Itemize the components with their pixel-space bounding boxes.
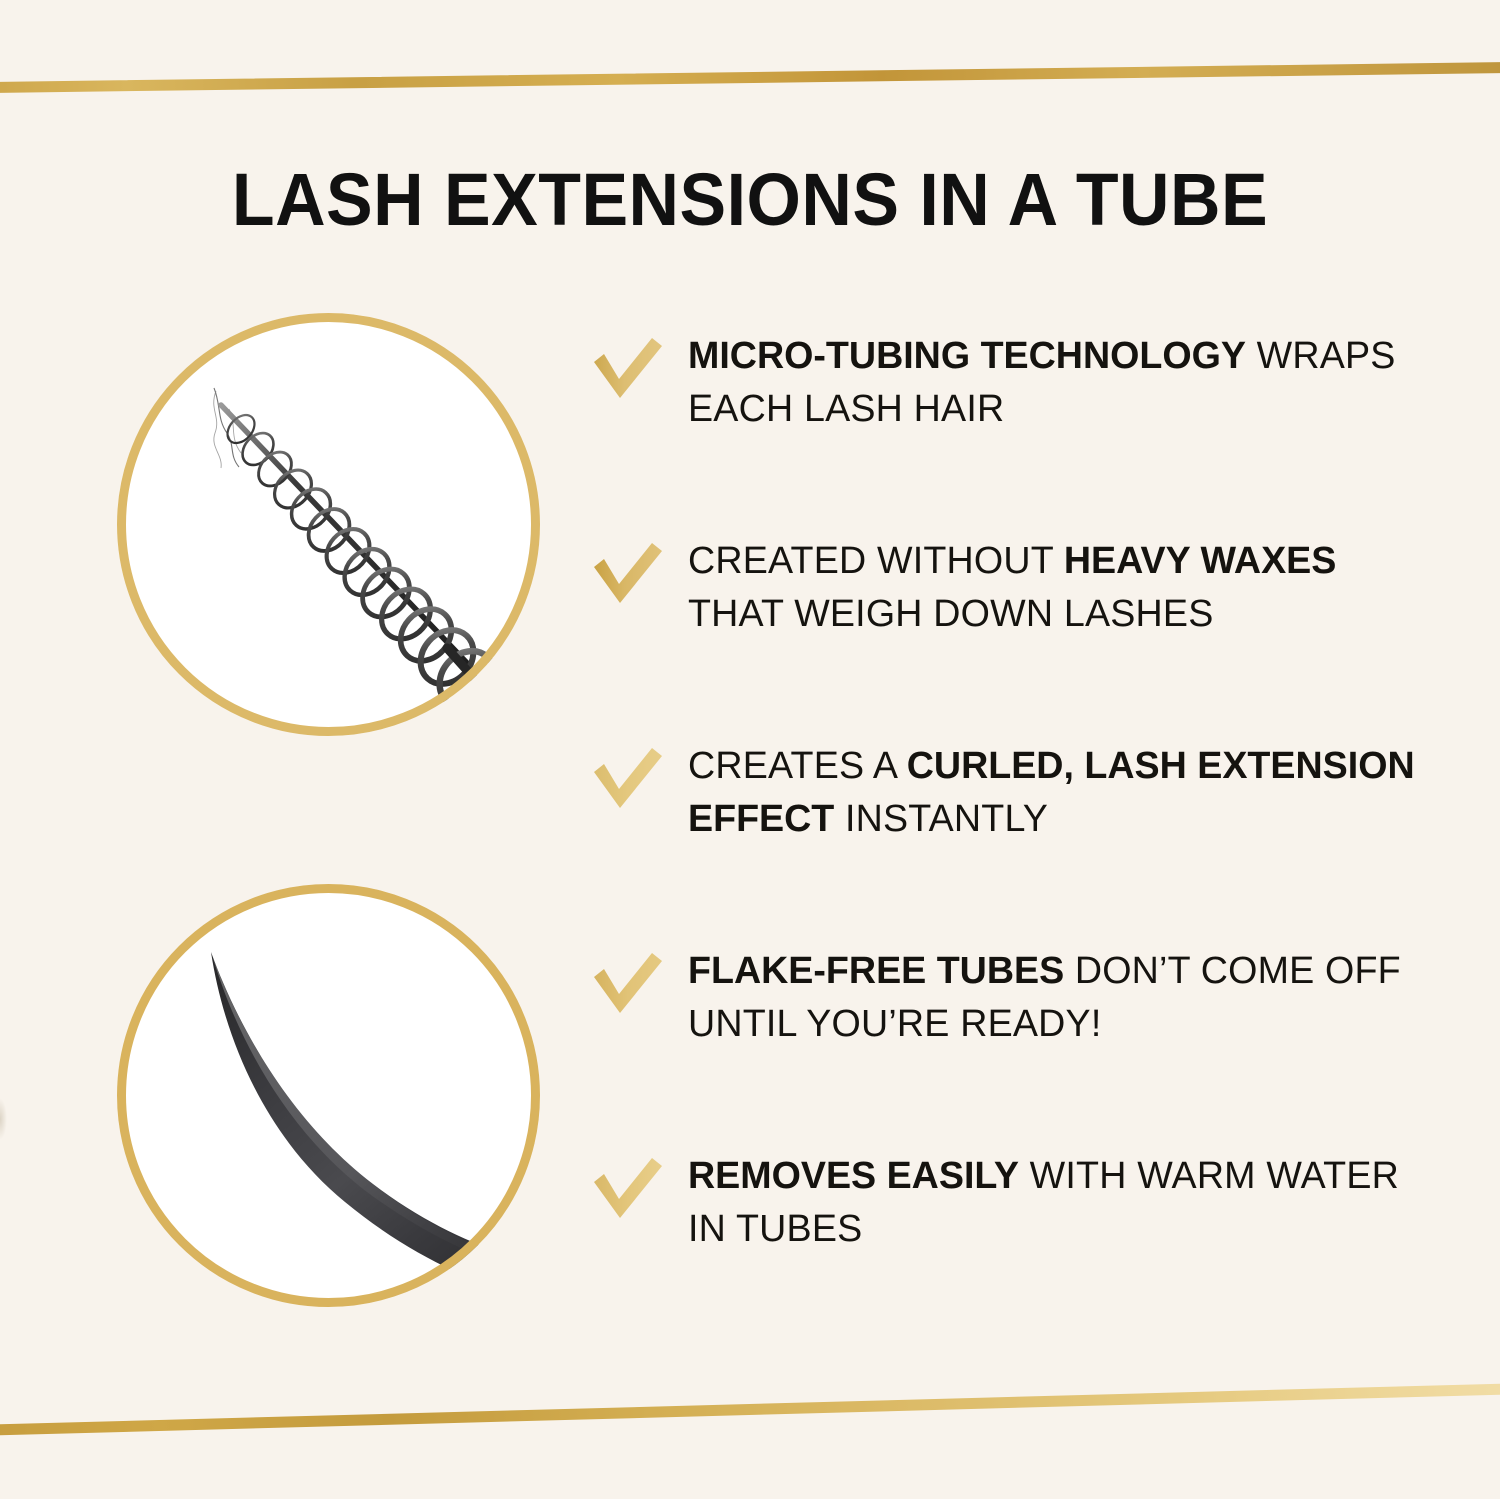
check-icon bbox=[592, 541, 664, 607]
benefits-list: MICRO-TUBING TECHNOLOGY WRAPS EACH LASH … bbox=[592, 330, 1432, 1355]
list-item-text: REMOVES EASILY WITH WARM WATER IN TUBES bbox=[688, 1150, 1426, 1256]
list-item-text: CREATES A CURLED, LASH EXTENSION EFFECT … bbox=[688, 740, 1426, 846]
list-item-text: FLAKE-FREE TUBES DON’T COME OFF UNTIL YO… bbox=[688, 945, 1426, 1051]
check-icon bbox=[592, 951, 664, 1017]
check-icon bbox=[592, 336, 664, 402]
curled-lash-closeup-image bbox=[117, 884, 540, 1307]
list-item: FLAKE-FREE TUBES DON’T COME OFF UNTIL YO… bbox=[592, 945, 1432, 1150]
check-icon bbox=[592, 746, 664, 812]
infographic-canvas: LASH EXTENSIONS IN A TUBE bbox=[0, 0, 1500, 1499]
list-item: REMOVES EASILY WITH WARM WATER IN TUBES bbox=[592, 1150, 1432, 1355]
gold-frame-line-bottom bbox=[0, 1382, 1500, 1437]
check-icon bbox=[592, 1156, 664, 1222]
edge-artifact bbox=[0, 1098, 7, 1140]
list-item: CREATES A CURLED, LASH EXTENSION EFFECT … bbox=[592, 740, 1432, 945]
page-title: LASH EXTENSIONS IN A TUBE bbox=[41, 161, 1459, 239]
micro-tubing-closeup-image bbox=[117, 313, 540, 736]
list-item-text: MICRO-TUBING TECHNOLOGY WRAPS EACH LASH … bbox=[688, 330, 1426, 436]
gold-frame-line-top bbox=[0, 61, 1500, 93]
list-item: MICRO-TUBING TECHNOLOGY WRAPS EACH LASH … bbox=[592, 330, 1432, 535]
list-item-text: CREATED WITHOUT HEAVY WAXES THAT WEIGH D… bbox=[688, 535, 1426, 641]
list-item: CREATED WITHOUT HEAVY WAXES THAT WEIGH D… bbox=[592, 535, 1432, 740]
